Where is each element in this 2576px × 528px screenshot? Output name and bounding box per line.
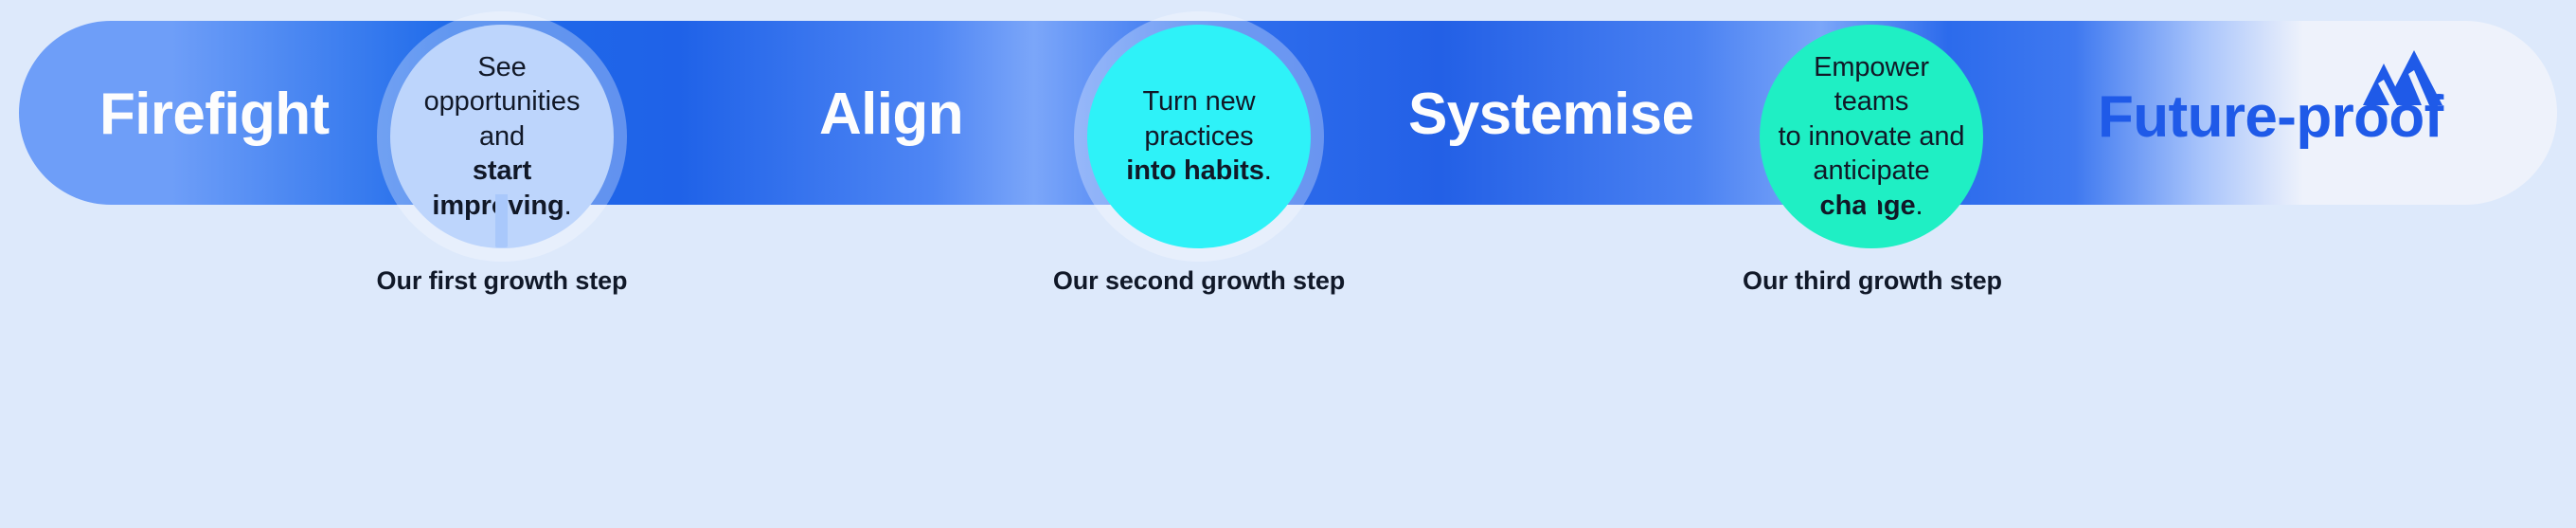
- connector-line-1: [495, 194, 508, 247]
- node-2-line-2: practices: [1144, 121, 1253, 152]
- caption-step-3: Our third growth step: [1743, 266, 2002, 296]
- node-1-line-2: opportunities and: [424, 86, 581, 152]
- node-3-line-1: Empower teams: [1814, 52, 1929, 118]
- node-2-line-3-tail: .: [1264, 155, 1272, 186]
- node-2-line-1: Turn new: [1142, 86, 1255, 117]
- infographic-canvas: Firefight Align Systemise Future-proof S…: [0, 0, 2576, 528]
- caption-step-2: Our second growth step: [1053, 266, 1345, 296]
- node-2-line-3-bold: into habits: [1126, 155, 1264, 186]
- node-3-line-2: to innovate and: [1779, 121, 1965, 152]
- connector-line-3: [1866, 194, 1878, 247]
- stage-label-firefight: Firefight: [99, 81, 330, 148]
- caption-step-1: Our first growth step: [377, 266, 628, 296]
- node-3-line-3-tail: .: [1915, 191, 1923, 221]
- stage-label-align: Align: [819, 81, 963, 148]
- mountain-peaks-logo: [2355, 50, 2443, 105]
- node-2-text: Turn new practices into habits.: [1113, 84, 1284, 189]
- stage-label-systemise: Systemise: [1408, 81, 1693, 148]
- connector-line-2: [1192, 194, 1205, 247]
- node-3-line-3-lead: anticipate: [1813, 155, 1929, 186]
- node-1-line-1: See: [477, 52, 526, 82]
- node-1-line-3-tail: .: [564, 191, 572, 221]
